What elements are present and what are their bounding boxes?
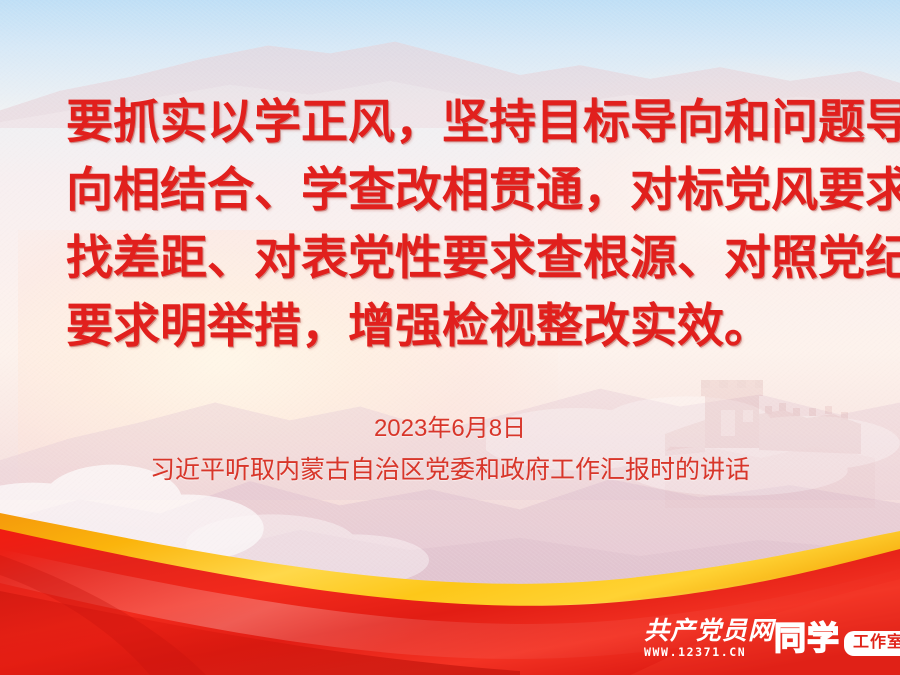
speech-source: 习近平听取内蒙古自治区党委和政府工作汇报时的讲话	[0, 452, 900, 488]
speech-date: 2023年6月8日	[0, 412, 900, 446]
studio-logo-main: 同学	[774, 621, 840, 655]
logo-block: 共产党员网 WWW.12371.CN 同学 工作室	[644, 612, 888, 664]
headline-quote: 要抓实以学正风，坚持目标导向和问题导 向相结合、学查改相贯通，对标党风要求 找差…	[66, 88, 842, 360]
studio-logo-pill: 工作室	[844, 631, 900, 656]
cpc-member-net-url: WWW.12371.CN	[644, 645, 746, 659]
headline-line-2: 向相结合、学查改相贯通，对标党风要求	[66, 156, 842, 224]
attribution-block: 2023年6月8日 习近平听取内蒙古自治区党委和政府工作汇报时的讲话	[0, 412, 900, 488]
headline-line-4: 要求明举措，增强检视整改实效。	[66, 292, 842, 360]
cpc-member-net-name: 共产党员网	[644, 618, 774, 645]
headline-line-1: 要抓实以学正风，坚持目标导向和问题导	[66, 88, 842, 156]
poster-canvas: 要抓实以学正风，坚持目标导向和问题导 向相结合、学查改相贯通，对标党风要求 找差…	[0, 0, 900, 675]
cpc-member-net-logo[interactable]: 共产党员网 WWW.12371.CN	[644, 618, 774, 659]
headline-line-3: 找差距、对表党性要求查根源、对照党纪	[66, 224, 842, 292]
studio-logo[interactable]: 同学 工作室	[774, 621, 900, 655]
